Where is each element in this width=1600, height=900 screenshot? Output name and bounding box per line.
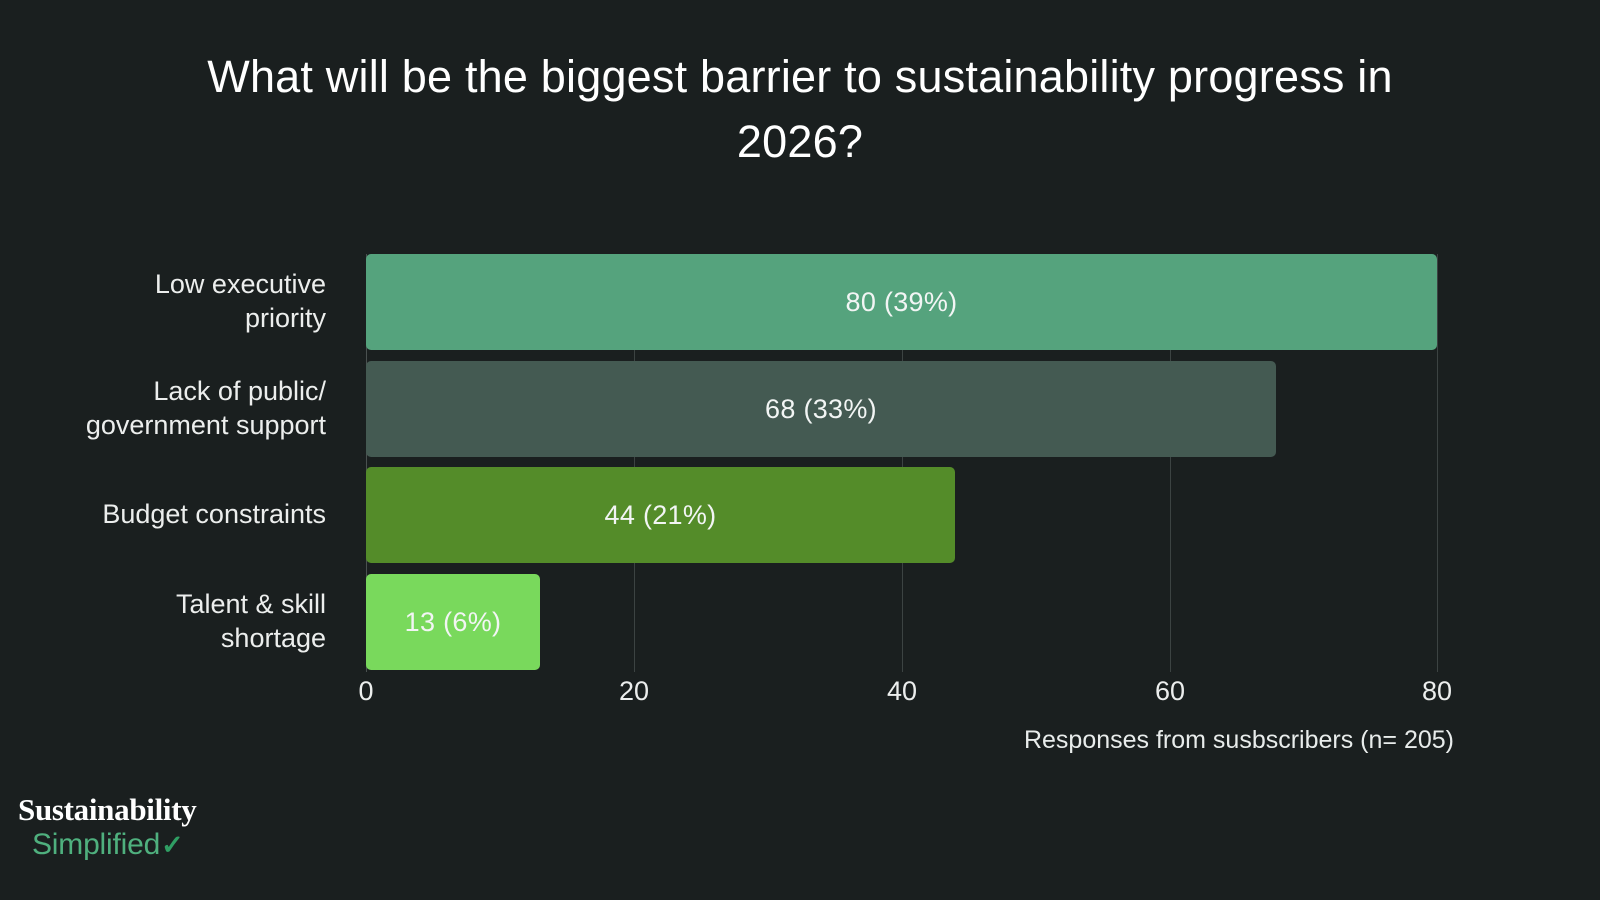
y-axis-label-low-executive-priority: Low executive priority: [0, 254, 348, 350]
bar-talent-skill-shortage[interactable]: 13 (6%): [366, 574, 540, 670]
checkmark-icon: ✓: [161, 832, 184, 859]
x-tick-0: 0: [358, 676, 373, 707]
x-tick-20: 20: [619, 676, 649, 707]
bar-value-label: 44 (21%): [605, 500, 717, 531]
gridline-80: [1437, 254, 1438, 672]
bar-budget-constraints[interactable]: 44 (21%): [366, 467, 955, 563]
chart-title: What will be the biggest barrier to sust…: [0, 44, 1600, 175]
x-tick-40: 40: [887, 676, 917, 707]
plot-area: 80 (39%) 68 (33%) 44 (21%) 13 (6%): [366, 254, 1437, 672]
y-axis-label-talent-skill-shortage: Talent & skill shortage: [0, 574, 348, 670]
bar-low-executive-priority[interactable]: 80 (39%): [366, 254, 1437, 350]
bar-value-label: 13 (6%): [405, 607, 502, 638]
x-tick-60: 60: [1155, 676, 1185, 707]
bar-value-label: 68 (33%): [765, 394, 877, 425]
x-tick-80: 80: [1422, 676, 1452, 707]
bar-lack-of-public-government-support[interactable]: 68 (33%): [366, 361, 1276, 457]
x-axis-tick-labels: 0 20 40 60 80: [366, 676, 1437, 716]
bar-value-label: 80 (39%): [846, 287, 958, 318]
y-axis-category-labels: Low executive priority Lack of public/ g…: [0, 254, 348, 672]
brand-logo: Sustainability Simplified ✓: [18, 794, 196, 860]
y-axis-label-budget-constraints: Budget constraints: [0, 467, 348, 563]
logo-text-sustainability: Sustainability: [18, 794, 196, 825]
bar-series: 80 (39%) 68 (33%) 44 (21%) 13 (6%): [366, 254, 1437, 672]
y-axis-label-lack-of-public-government-support: Lack of public/ government support: [0, 361, 348, 457]
logo-text-simplified: Simplified: [32, 830, 160, 860]
source-annotation: Responses from susbscribers (n= 205): [1024, 726, 1454, 755]
logo-line-two: Simplified ✓: [32, 830, 196, 860]
